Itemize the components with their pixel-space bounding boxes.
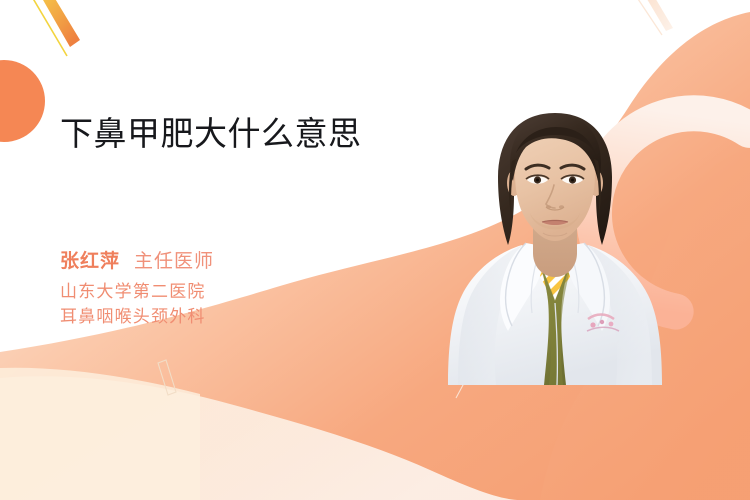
orange-circle-decoration [0, 60, 45, 142]
faint-peach-diagonal-stripe-decoration [636, 0, 673, 35]
doctor-info-block: 张红萍主任医师 山东大学第二医院 耳鼻咽喉头颈外科 [60, 246, 214, 330]
doctor-name: 张红萍 [60, 251, 120, 272]
gradient-diagonal-stripe-decoration [35, 0, 80, 47]
title-block: 下鼻甲肥大什么意思 [60, 112, 410, 156]
thin-yellow-diagonal-line-decoration [28, 0, 67, 56]
page-title: 下鼻甲肥大什么意思 [60, 112, 398, 156]
doctor-portrait [430, 95, 680, 385]
doctor-department: 耳鼻咽喉头颈外科 [60, 305, 214, 330]
outline-diagonal-stripe-decoration [158, 360, 176, 395]
doctor-professional-title: 主任医师 [134, 251, 214, 272]
doctor-info-card: 下鼻甲肥大什么意思 张红萍主任医师 山东大学第二医院 耳鼻咽喉头颈外科 [0, 0, 750, 500]
light-peach-wave-decoration [0, 368, 200, 500]
doctor-portrait-image [430, 95, 680, 385]
doctor-hospital: 山东大学第二医院 [60, 280, 214, 305]
light-peach-wave-inner-decoration [0, 376, 520, 500]
doctor-name-row: 张红萍主任医师 [60, 246, 214, 273]
